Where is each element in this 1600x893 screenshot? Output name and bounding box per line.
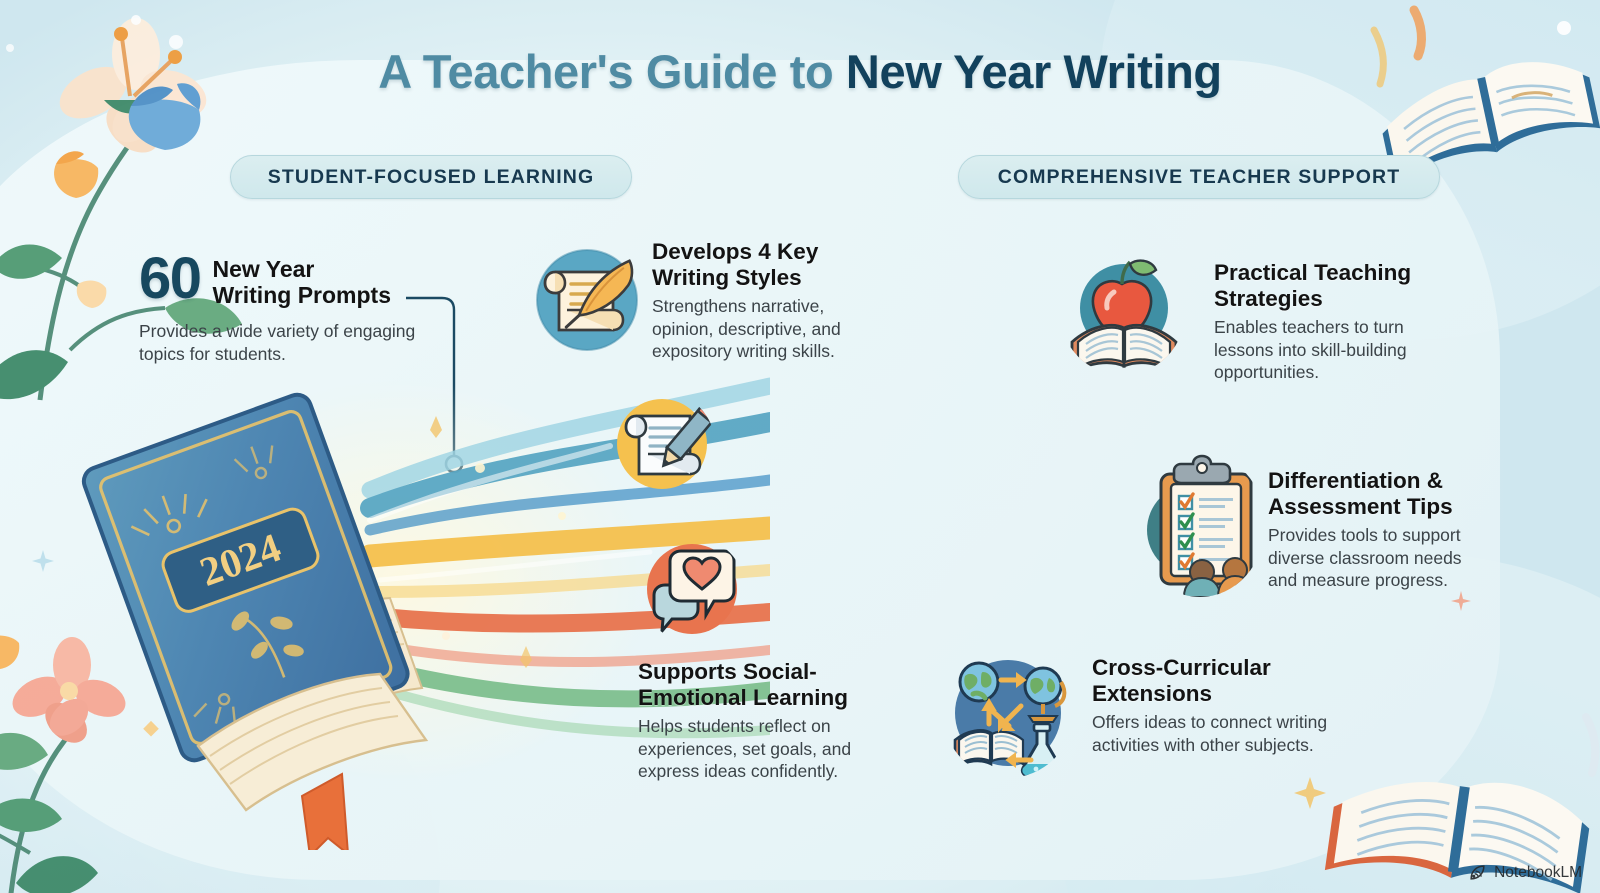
sparkle-decoration bbox=[1450, 590, 1472, 612]
feature-description: Enables teachers to turn lessons into sk… bbox=[1214, 316, 1434, 383]
feature-description: Offers ideas to connect writing activiti… bbox=[1092, 711, 1347, 756]
section-header-label: COMPREHENSIVE TEACHER SUPPORT bbox=[998, 166, 1400, 189]
stat-number: 60 bbox=[139, 252, 201, 305]
page-title-part-dark: New Year Writing bbox=[846, 45, 1222, 98]
watermark-label: NotebookLM bbox=[1494, 864, 1582, 882]
clipboard-checklist-icon bbox=[1135, 452, 1265, 597]
globe-book-flask-icon bbox=[943, 648, 1073, 778]
document-pencil-icon bbox=[610, 392, 715, 497]
page-title-part-light: A Teacher's Guide to bbox=[378, 45, 846, 98]
feature-teaching-strategies: Practical Teaching Strategies Enables te… bbox=[1214, 260, 1434, 383]
feature-description: Provides tools to support diverse classr… bbox=[1268, 524, 1483, 591]
feature-description: Strengthens narrative, opinion, descript… bbox=[652, 295, 862, 362]
notebooklm-logo-icon bbox=[1468, 863, 1487, 882]
page-title: A Teacher's Guide to New Year Writing bbox=[0, 44, 1600, 99]
stat-label-line-2: Writing Prompts bbox=[213, 282, 391, 308]
feature-social-emotional: Supports Social-Emotional Learning Helps… bbox=[638, 659, 866, 782]
feature-title: Practical Teaching Strategies bbox=[1214, 260, 1434, 312]
sparkle-decoration bbox=[1290, 773, 1330, 813]
feature-title: Develops 4 Key Writing Styles bbox=[652, 239, 862, 291]
feature-title: Supports Social-Emotional Learning bbox=[638, 659, 866, 711]
feature-description: Helps students reflect on experiences, s… bbox=[638, 715, 866, 782]
feature-differentiation: Differentiation & Assessment Tips Provid… bbox=[1268, 468, 1483, 591]
chat-heart-icon bbox=[640, 537, 745, 642]
feature-title: Cross-Curricular Extensions bbox=[1092, 655, 1347, 707]
scroll-quill-icon bbox=[527, 240, 647, 360]
apple-book-icon bbox=[1060, 250, 1185, 375]
stat-label-line-1: New Year bbox=[213, 256, 391, 282]
section-header-student-focused: STUDENT-FOCUSED LEARNING bbox=[230, 155, 632, 199]
stat-label: New Year Writing Prompts bbox=[213, 252, 391, 308]
section-header-label: STUDENT-FOCUSED LEARNING bbox=[268, 166, 595, 189]
section-header-teacher-support: COMPREHENSIVE TEACHER SUPPORT bbox=[958, 155, 1440, 199]
sparkle-decoration bbox=[30, 548, 56, 574]
feature-writing-styles: Develops 4 Key Writing Styles Strengthen… bbox=[652, 239, 862, 362]
feature-cross-curricular: Cross-Curricular Extensions Offers ideas… bbox=[1092, 655, 1347, 756]
infographic-canvas: A Teacher's Guide to New Year Writing ST… bbox=[0, 0, 1600, 893]
feature-title: Differentiation & Assessment Tips bbox=[1268, 468, 1483, 520]
notebooklm-watermark: NotebookLM bbox=[1468, 863, 1582, 882]
